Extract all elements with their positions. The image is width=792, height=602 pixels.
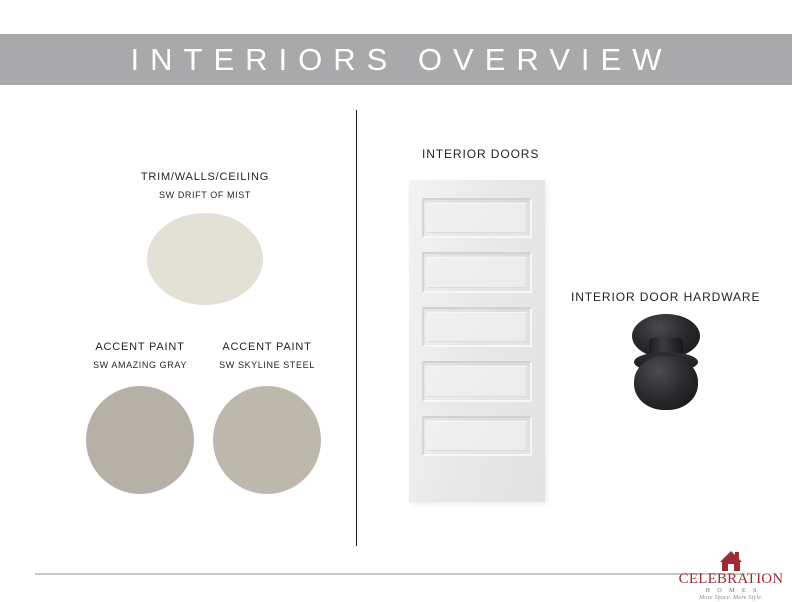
vertical-divider — [356, 110, 357, 546]
section-heading-interior-doors: INTERIOR DOORS — [422, 147, 539, 161]
paint-group-accent-2: ACCENT PAINT SW SKYLINE STEEL — [182, 340, 352, 494]
paint-label: TRIM/WALLS/CEILING — [90, 170, 320, 184]
door-knob-illustration — [612, 312, 720, 414]
paint-swatch-drift-of-mist — [147, 213, 263, 305]
section-heading-interior-door-hardware: INTERIOR DOOR HARDWARE — [571, 290, 760, 304]
door-panel — [422, 307, 532, 347]
page-title: INTERIORS OVERVIEW — [120, 44, 673, 75]
logo-company-name: CELEBRATION — [676, 572, 786, 588]
door-panel — [422, 416, 532, 456]
interior-door-illustration — [409, 180, 545, 502]
house-icon — [718, 551, 744, 571]
paint-swatch-amazing-gray — [86, 386, 194, 494]
door-panel — [422, 361, 532, 401]
logo-company-sub: H O M E S — [676, 588, 786, 595]
door-panel — [422, 198, 532, 238]
paint-label: ACCENT PAINT — [182, 340, 352, 354]
knob-head — [634, 356, 698, 410]
company-logo: CELEBRATION H O M E S More Space. More S… — [676, 551, 786, 596]
paint-swatch-skyline-steel — [213, 386, 321, 494]
logo-tagline: More Space. More Style. — [676, 595, 786, 602]
paint-sublabel: SW SKYLINE STEEL — [182, 360, 352, 372]
house-door — [728, 564, 734, 571]
door-panel-group — [422, 198, 532, 456]
footer-divider — [35, 573, 745, 575]
paint-group-trim: TRIM/WALLS/CEILING SW DRIFT OF MIST — [90, 170, 320, 305]
header-banner: INTERIORS OVERVIEW — [0, 34, 792, 85]
paint-sublabel: SW DRIFT OF MIST — [90, 190, 320, 202]
door-panel — [422, 252, 532, 292]
